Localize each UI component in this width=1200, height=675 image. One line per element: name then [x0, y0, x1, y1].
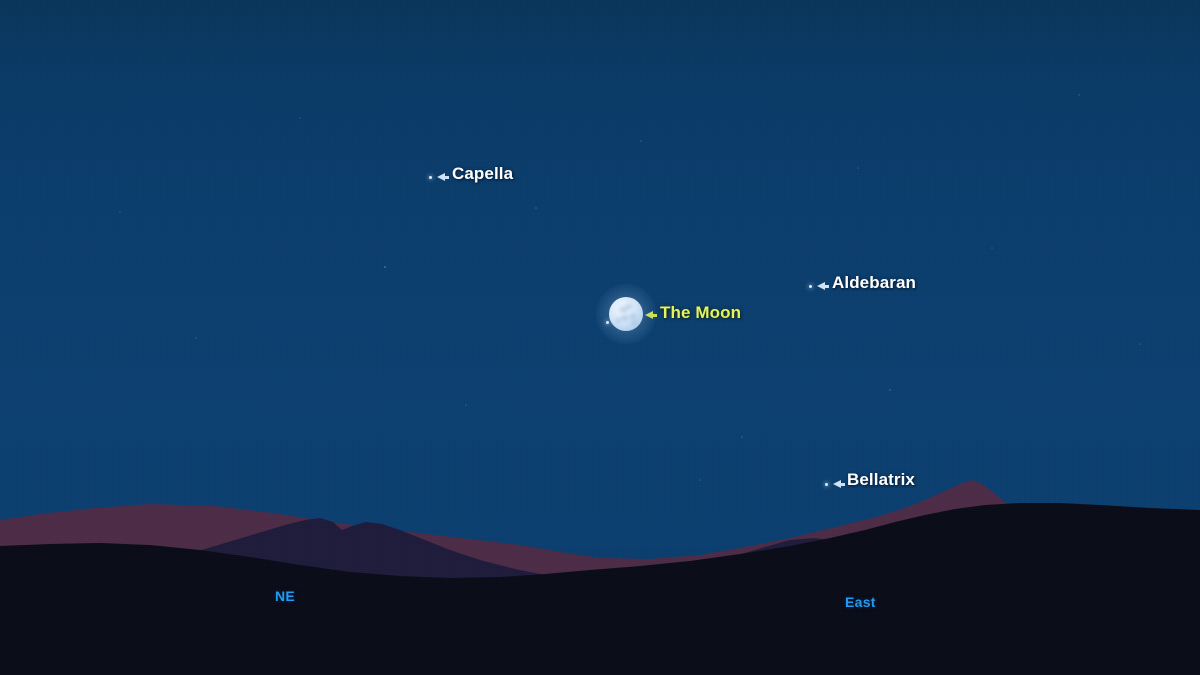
pointer-tail	[653, 314, 657, 317]
moon-mare	[626, 304, 632, 309]
object-label-bellatrix[interactable]: Bellatrix	[847, 471, 915, 488]
moon-disc[interactable]	[609, 297, 643, 331]
moon-mare	[616, 318, 621, 323]
star-point-bellatrix[interactable]	[825, 483, 828, 486]
star-point-capella[interactable]	[429, 176, 432, 179]
compass-label-ne: NE	[275, 588, 295, 604]
object-label-capella[interactable]: Capella	[452, 165, 513, 182]
moon-mare	[621, 315, 629, 321]
pointer-tail	[825, 285, 829, 288]
triangle-glyph	[817, 282, 825, 290]
moon-mare	[630, 313, 636, 320]
pointer-tail	[445, 176, 449, 179]
pointer-tail	[841, 483, 845, 486]
triangle-glyph	[833, 480, 841, 488]
foreground-hill-path	[0, 503, 1200, 675]
triangle-glyph	[645, 311, 653, 319]
horizon-layer-foreground-hill	[0, 460, 1200, 675]
moon-disc-wrapper[interactable]	[609, 297, 643, 331]
object-label-aldebaran[interactable]: Aldebaran	[832, 274, 916, 291]
sky-chart-scene[interactable]: CapellaAldebaranElnathBellatrixThe Moon …	[0, 0, 1200, 675]
compass-label-east: East	[845, 594, 876, 610]
moon-mare	[631, 321, 637, 325]
star-point-aldebaran[interactable]	[809, 285, 812, 288]
triangle-glyph	[437, 173, 445, 181]
object-label-the-moon[interactable]: The Moon	[660, 304, 741, 321]
